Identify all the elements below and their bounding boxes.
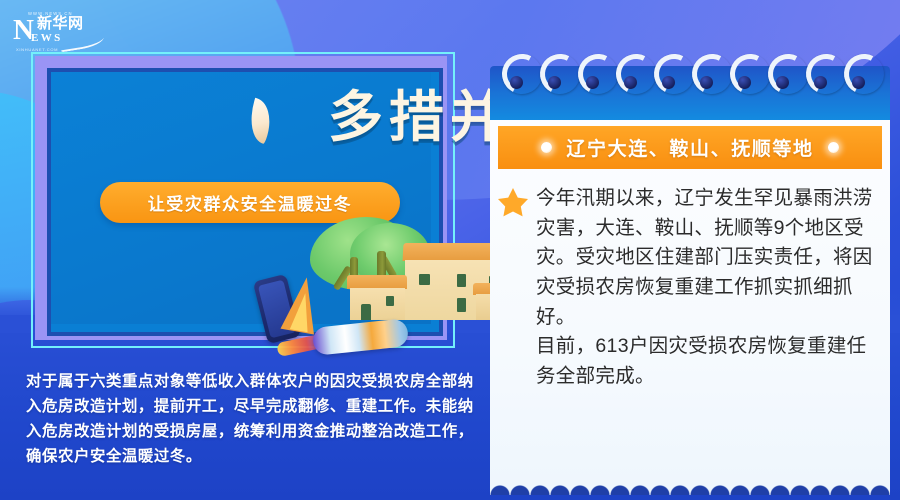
- spiral-ring-shadow: [586, 76, 599, 89]
- spiral-ring-shadow: [776, 76, 789, 89]
- bottom-paragraph: 对于属于六类重点对象等低收入群体农户的因灾受损农房全部纳入危房改造计划，提前开工…: [26, 370, 486, 470]
- spiral-ring-shadow: [738, 76, 751, 89]
- region-banner: 辽宁大连、鞍山、抚顺等地: [498, 126, 882, 169]
- infographic-canvas: WWW.NEWS.CN N 新华网 EWS XINHUANET.COM 多措并举…: [0, 0, 900, 500]
- spiral-ring-shadow: [624, 76, 637, 89]
- rolled-paper-icon: [312, 318, 409, 356]
- house-window-icon: [419, 274, 430, 285]
- spiral-ring-shadow: [662, 76, 675, 89]
- house-window-icon: [386, 296, 394, 306]
- spiral-ring-shadow: [852, 76, 865, 89]
- banner-dot-right-icon: [828, 142, 839, 153]
- logo-swoosh-icon: [59, 32, 105, 53]
- notepad-paragraph: 目前，613户因灾受损农房恢复重建任务全部完成。: [536, 332, 876, 391]
- banner-dot-left-icon: [541, 142, 552, 153]
- spiral-ring-shadow: [510, 76, 523, 89]
- spiral-ring-shadow: [814, 76, 827, 89]
- notepad-card: 辽宁大连、鞍山、抚顺等地 今年汛期以来，辽宁发生罕见暴雨洪涝灾害，大连、鞍山、抚…: [490, 52, 890, 452]
- spiral-ring-shadow: [700, 76, 713, 89]
- notepad-text: 今年汛期以来，辽宁发生罕见暴雨洪涝灾害，大连、鞍山、抚顺等9个地区受灾。受灾地区…: [536, 184, 876, 391]
- house-roof-icon: [347, 275, 407, 289]
- house-window-icon: [457, 298, 466, 312]
- subtitle-pill-label: 让受灾群众安全温暖过冬: [148, 190, 353, 215]
- notepad-paragraph: 今年汛期以来，辽宁发生罕见暴雨洪涝灾害，大连、鞍山、抚顺等9个地区受灾。受灾地区…: [536, 184, 876, 332]
- village-illustration: [255, 215, 525, 365]
- house-door-icon: [361, 304, 371, 320]
- region-banner-title: 辽宁大连、鞍山、抚顺等地: [566, 134, 813, 161]
- logo-letters-ews: EWS: [31, 32, 63, 44]
- xinhua-logo: WWW.NEWS.CN N 新华网 EWS XINHUANET.COM: [10, 8, 106, 54]
- spiral-ring-shadow: [548, 76, 561, 89]
- house-window-icon: [457, 274, 466, 287]
- logo-chinese-name: 新华网: [37, 16, 84, 32]
- notepad-scallop-dark: [490, 483, 890, 495]
- house-body-icon: [350, 288, 405, 320]
